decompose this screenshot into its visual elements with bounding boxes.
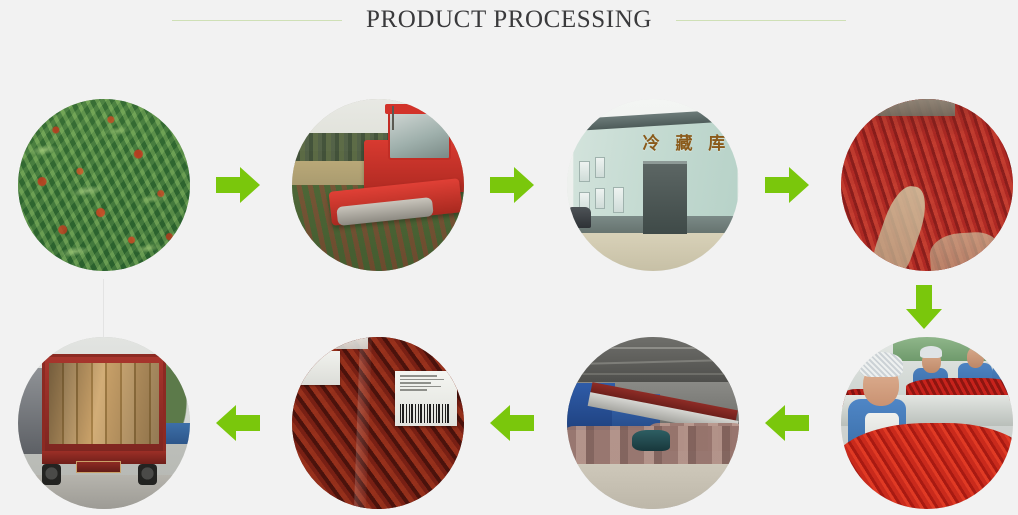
bag-top-strip bbox=[316, 337, 368, 349]
arrow-right-step3-to-step4 bbox=[765, 166, 809, 204]
bag-seam bbox=[354, 337, 372, 509]
step-7-packaging[interactable] bbox=[292, 337, 464, 509]
roof-truss bbox=[567, 373, 739, 375]
step-5-manual-sorting[interactable] bbox=[841, 337, 1013, 509]
dirt-path bbox=[868, 184, 935, 271]
package-label-secondary bbox=[295, 351, 340, 385]
window bbox=[613, 187, 624, 213]
harvester-mirror-pole bbox=[392, 106, 394, 130]
photo-drying-field bbox=[841, 99, 1013, 271]
building-sign: 冷 藏 库 bbox=[643, 128, 726, 156]
photo-warehouse bbox=[567, 337, 739, 509]
arrow-down-step4-to-step5 bbox=[905, 285, 943, 329]
photo-sorting-workers bbox=[841, 337, 1013, 509]
window bbox=[595, 188, 606, 209]
far-structures bbox=[855, 99, 955, 116]
arrow-right-step2-to-step3 bbox=[490, 166, 534, 204]
floor bbox=[567, 461, 739, 509]
cargo-shading bbox=[49, 363, 159, 444]
package-label-primary bbox=[395, 371, 457, 426]
worker-1-hairnet bbox=[860, 352, 903, 376]
harvester-cab bbox=[388, 111, 450, 160]
sign-char-3: 库 bbox=[708, 129, 725, 154]
wheel-right bbox=[138, 464, 157, 485]
photo-harvester bbox=[292, 99, 464, 271]
worker-3-head bbox=[967, 347, 984, 368]
ground bbox=[567, 231, 739, 271]
step-3-cold-storage-warehouse[interactable]: 冷 藏 库 bbox=[567, 99, 739, 271]
arrow-left-step6-to-step7 bbox=[490, 404, 534, 442]
green-panel bbox=[893, 337, 1013, 361]
wheel-left bbox=[42, 464, 61, 485]
barcode bbox=[400, 404, 450, 423]
loading-dock bbox=[18, 368, 42, 454]
step-2-mechanical-harvesting[interactable] bbox=[292, 99, 464, 271]
photo-cold-storage: 冷 藏 库 bbox=[567, 99, 739, 271]
label-text-lines bbox=[400, 375, 452, 391]
step-1-chili-plants-field[interactable] bbox=[18, 99, 190, 271]
harvester-cab-roof bbox=[385, 104, 450, 114]
step-8-loading-shipping[interactable] bbox=[18, 337, 190, 509]
container-interior bbox=[49, 363, 159, 444]
dirt-path-lower bbox=[929, 231, 1001, 271]
photo-chili-plants bbox=[18, 99, 190, 271]
chili-pile-foreground bbox=[841, 423, 1013, 509]
window bbox=[595, 157, 606, 178]
tarpaulin bbox=[632, 430, 670, 451]
parked-car bbox=[569, 207, 591, 228]
step-6-factory-processing-line[interactable] bbox=[567, 337, 739, 509]
worker-2-hairnet bbox=[920, 346, 942, 358]
sign-char-1: 冷 bbox=[643, 129, 660, 154]
sign-char-2: 藏 bbox=[675, 129, 692, 154]
license-plate bbox=[76, 461, 121, 473]
arrow-right-step1-to-step2 bbox=[216, 166, 260, 204]
window bbox=[579, 161, 590, 182]
photo-packaged-chilies bbox=[292, 337, 464, 509]
arrow-left-step5-to-step6 bbox=[765, 404, 809, 442]
roof-truss bbox=[567, 347, 739, 349]
step-4-sun-drying-chilies[interactable] bbox=[841, 99, 1013, 271]
flow-connector-line bbox=[103, 279, 104, 337]
foliage-overlay bbox=[18, 99, 190, 271]
warehouse-door bbox=[643, 161, 688, 235]
product-processing-flow: 冷 藏 库 bbox=[0, 0, 1018, 515]
photo-loaded-truck bbox=[18, 337, 190, 509]
arrow-left-step7-to-step8 bbox=[216, 404, 260, 442]
